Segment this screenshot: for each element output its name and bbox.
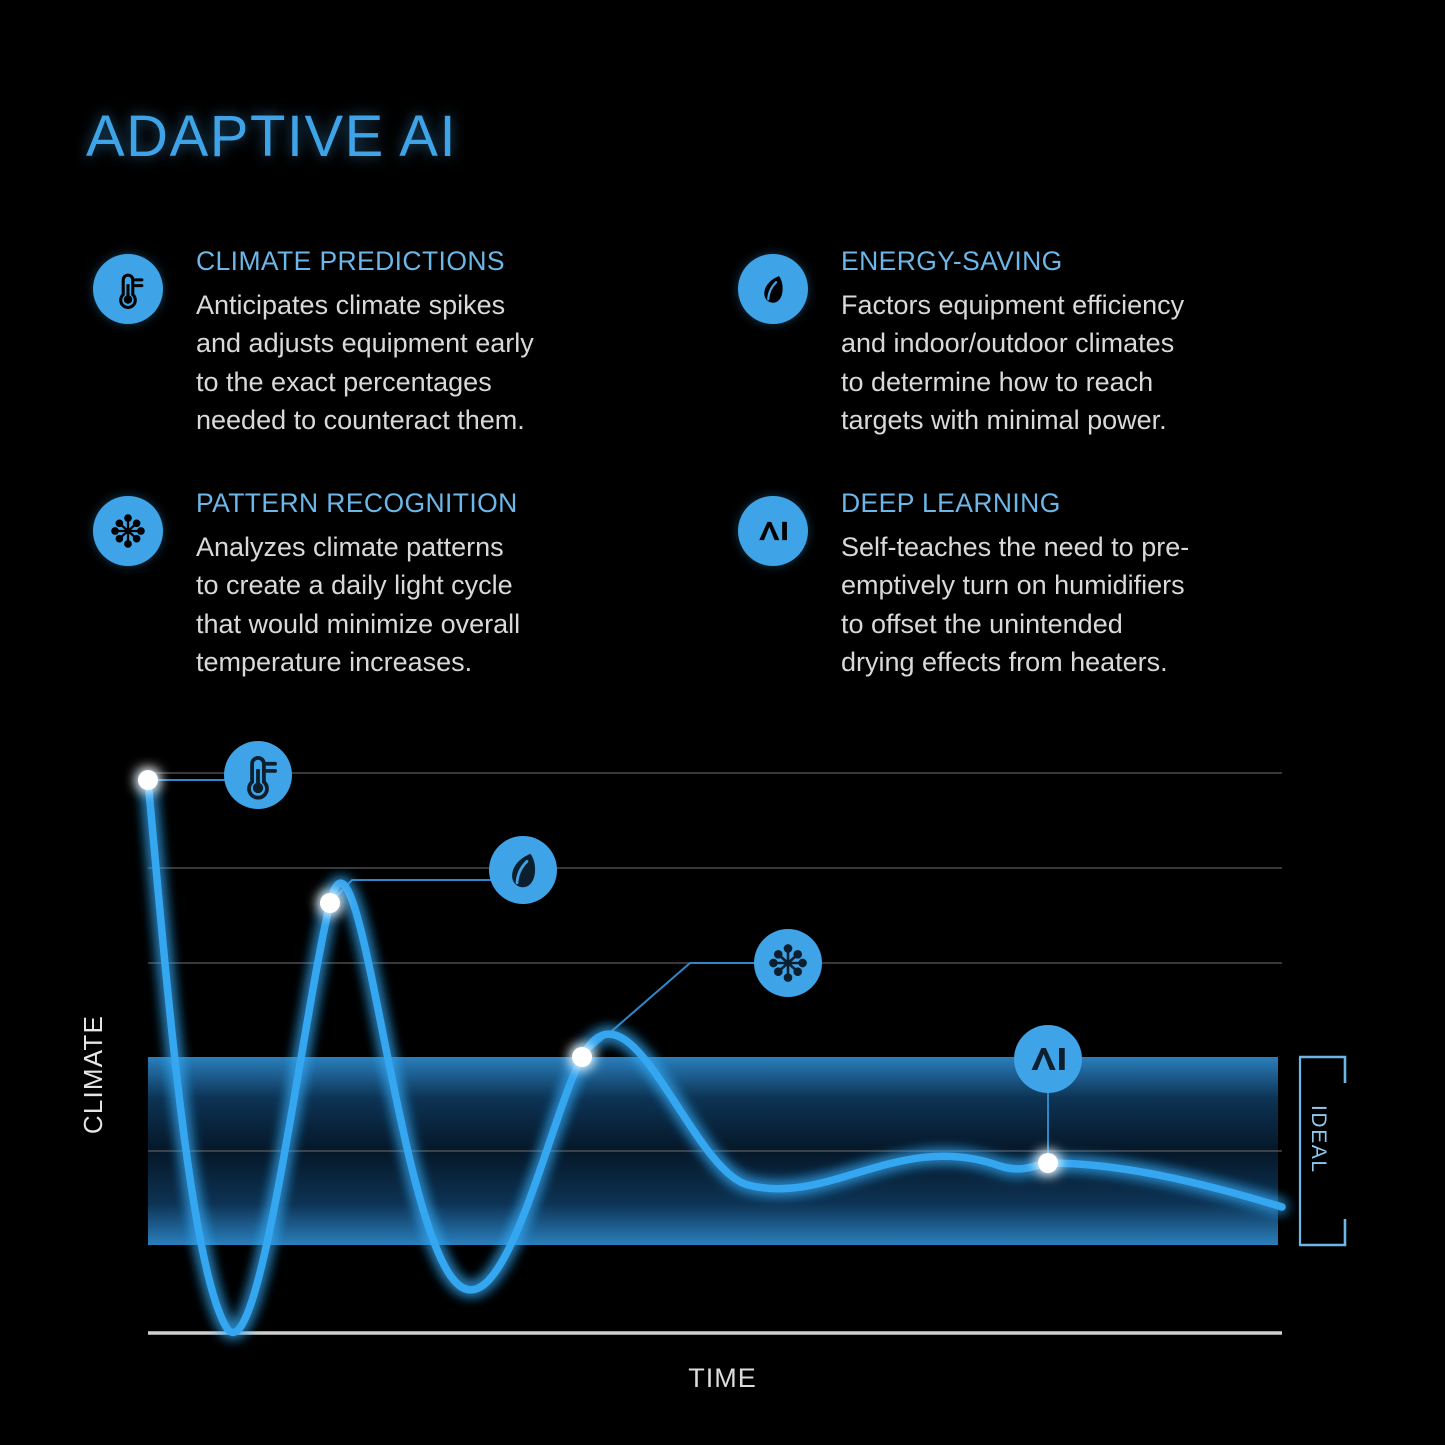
desc-line: and indoor/outdoor climates (841, 324, 1184, 363)
desc-line: Analyzes climate patterns (196, 528, 520, 567)
y-axis-label: CLIMATE (78, 1015, 109, 1134)
data-point (320, 893, 340, 913)
feature-body: DEEP LEARNING Self-teaches the need to p… (841, 490, 1189, 682)
desc-line: temperature increases. (196, 643, 520, 682)
feature-title: ENERGY-SAVING (841, 248, 1184, 275)
desc-line: to offset the unintended (841, 605, 1189, 644)
feature-title: CLIMATE PREDICTIONS (196, 248, 534, 275)
feature-climate-predictions: CLIMATE PREDICTIONS Anticipates climate … (93, 248, 693, 440)
ideal-label: IDEAL (1306, 1105, 1330, 1174)
feature-description: Analyzes climate patterns to create a da… (196, 528, 520, 682)
feature-body: CLIMATE PREDICTIONS Anticipates climate … (196, 248, 534, 440)
desc-line: to the exact percentages (196, 363, 534, 402)
feature-body: PATTERN RECOGNITION Analyzes climate pat… (196, 490, 520, 682)
thermometer-icon (93, 254, 163, 324)
feature-description: Anticipates climate spikes and adjusts e… (196, 286, 534, 440)
feature-description: Self-teaches the need to pre- emptively … (841, 528, 1189, 682)
climate-curve (148, 780, 1282, 1332)
desc-line: to create a daily light cycle (196, 566, 520, 605)
chart-annotation-ai-logo-icon (1014, 1025, 1082, 1093)
pattern-nodes-icon (93, 496, 163, 566)
desc-line: Self-teaches the need to pre- (841, 528, 1189, 567)
desc-line: Factors equipment efficiency (841, 286, 1184, 325)
feature-pattern-recognition: PATTERN RECOGNITION Analyzes climate pat… (93, 490, 693, 682)
data-point (138, 770, 158, 790)
chart-annotation-pattern-nodes-icon (754, 929, 822, 997)
desc-line: that would minimize overall (196, 605, 520, 644)
feature-description: Factors equipment efficiency and indoor/… (841, 286, 1184, 440)
desc-line: Anticipates climate spikes (196, 286, 534, 325)
chart-annotation-thermometer-icon (224, 741, 292, 809)
feature-deep-learning: DEEP LEARNING Self-teaches the need to p… (738, 490, 1358, 682)
feature-energy-saving: ENERGY-SAVING Factors equipment efficien… (738, 248, 1358, 440)
x-axis-label: TIME (0, 1363, 1445, 1394)
chart-annotation-leaf-icon (489, 836, 557, 904)
feature-body: ENERGY-SAVING Factors equipment efficien… (841, 248, 1184, 440)
desc-line: drying effects from heaters. (841, 643, 1189, 682)
ai-logo-icon (738, 496, 808, 566)
infographic-root: ADAPTIVE AI CLIMATE PREDICTIONS Anticipa… (0, 0, 1445, 1445)
desc-line: targets with minimal power. (841, 401, 1184, 440)
climate-response-chart: CLIMATE IDEAL TIME (0, 700, 1445, 1445)
desc-line: to determine how to reach (841, 363, 1184, 402)
leaf-icon (738, 254, 808, 324)
data-point (1038, 1153, 1058, 1173)
data-point (572, 1047, 592, 1067)
page-title: ADAPTIVE AI (86, 103, 457, 170)
desc-line: needed to counteract them. (196, 401, 534, 440)
feature-title: DEEP LEARNING (841, 490, 1189, 517)
desc-line: emptively turn on humidifiers (841, 566, 1189, 605)
desc-line: and adjusts equipment early (196, 324, 534, 363)
feature-title: PATTERN RECOGNITION (196, 490, 520, 517)
